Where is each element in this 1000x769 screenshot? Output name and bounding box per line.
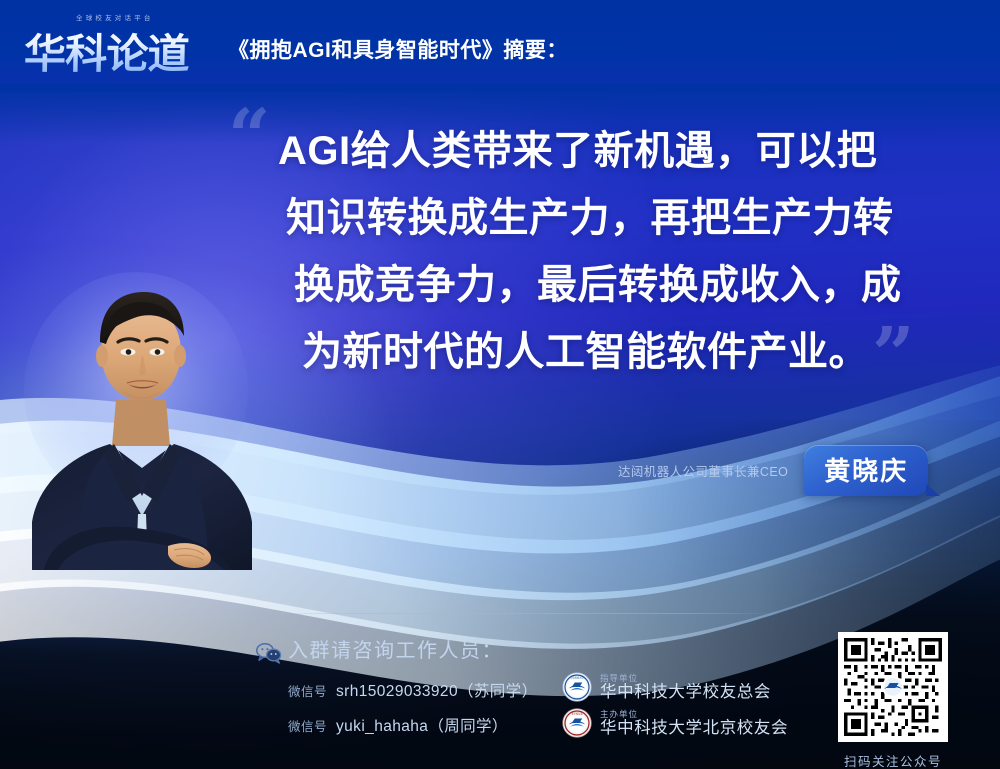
quote-line: 换成竞争力，最后转换成收入，成 xyxy=(278,252,938,319)
brand-logo: 全球校友对话平台 华科论道 华科论道 xyxy=(24,12,224,78)
contact-value[interactable]: srh15029033920（苏同学） xyxy=(327,679,537,701)
speaker-name-badge: 黄晓庆 xyxy=(804,445,928,496)
hust-beijing-alumni-seal-icon: 北京校友会 BEIJING xyxy=(562,708,592,738)
poster-header: 全球校友对话平台 华科论道 华科论道 《拥抱AGI和具身智能时代》摘要： xyxy=(0,0,1000,92)
hust-alumni-seal-icon: 华中科技大学 ALUMNI xyxy=(562,672,592,702)
org-row-host: 北京校友会 BEIJING 主办单位 华中科技大学北京校友会 xyxy=(562,708,788,738)
org-kind: 指导单位 xyxy=(600,673,771,683)
qr-section: 扫码关注公众号 xyxy=(838,632,948,769)
org-name: 华中科技大学校友总会 xyxy=(600,683,771,702)
quote-line: 为新时代的人工智能软件产业。 xyxy=(278,319,938,386)
quote-open-mark: “ xyxy=(228,100,269,174)
org-row-guidance: 华中科技大学 ALUMNI 指导单位 华中科技大学校友总会 xyxy=(562,672,771,702)
footer-heading: 入群请咨询工作人员： xyxy=(288,634,503,663)
contact-row: 微信号 srh15029033920（苏同学） xyxy=(288,679,537,701)
attribution: 达闼机器人公司董事长兼CEO 黄晓庆 xyxy=(618,445,928,496)
svg-text:ALUMNI: ALUMNI xyxy=(573,697,581,700)
qr-code[interactable] xyxy=(838,632,948,742)
quote-close-mark: ” xyxy=(872,318,913,392)
brand-logo-wordmark: 华科论道 xyxy=(23,20,189,80)
badge-tail-shape xyxy=(926,484,940,496)
org-text: 指导单位 华中科技大学校友总会 xyxy=(592,673,771,702)
page-title: 《拥抱AGI和具身智能时代》摘要： xyxy=(228,34,568,64)
org-text: 主办单位 华中科技大学北京校友会 xyxy=(592,709,788,738)
org-name: 华中科技大学北京校友会 xyxy=(600,719,788,738)
qr-caption: 扫码关注公众号 xyxy=(838,751,948,769)
speaker-portrait xyxy=(18,270,268,570)
contact-label: 微信号 xyxy=(288,716,327,735)
wechat-icon xyxy=(256,642,282,664)
qr-code-icon xyxy=(844,638,942,736)
quote-line: 知识转换成生产力，再把生产力转 xyxy=(278,185,938,252)
contact-label: 微信号 xyxy=(288,681,327,700)
org-kind: 主办单位 xyxy=(600,709,788,719)
speaker-role: 达闼机器人公司董事长兼CEO xyxy=(618,461,804,480)
quote-text: AGI给人类带来了新机遇，可以把 知识转换成生产力，再把生产力转 换成竞争力，最… xyxy=(278,118,938,386)
footer-divider xyxy=(258,613,778,614)
contact-value[interactable]: yuki_hahaha（周同学） xyxy=(327,714,508,736)
speaker-name: 黄晓庆 xyxy=(824,456,908,486)
quote-line: AGI给人类带来了新机遇，可以把 xyxy=(278,118,938,185)
contact-row: 微信号 yuki_hahaha（周同学） xyxy=(288,714,508,736)
poster-canvas: 全球校友对话平台 华科论道 华科论道 《拥抱AGI和具身智能时代》摘要： “ A… xyxy=(0,0,1000,769)
svg-text:BEIJING: BEIJING xyxy=(573,734,581,736)
